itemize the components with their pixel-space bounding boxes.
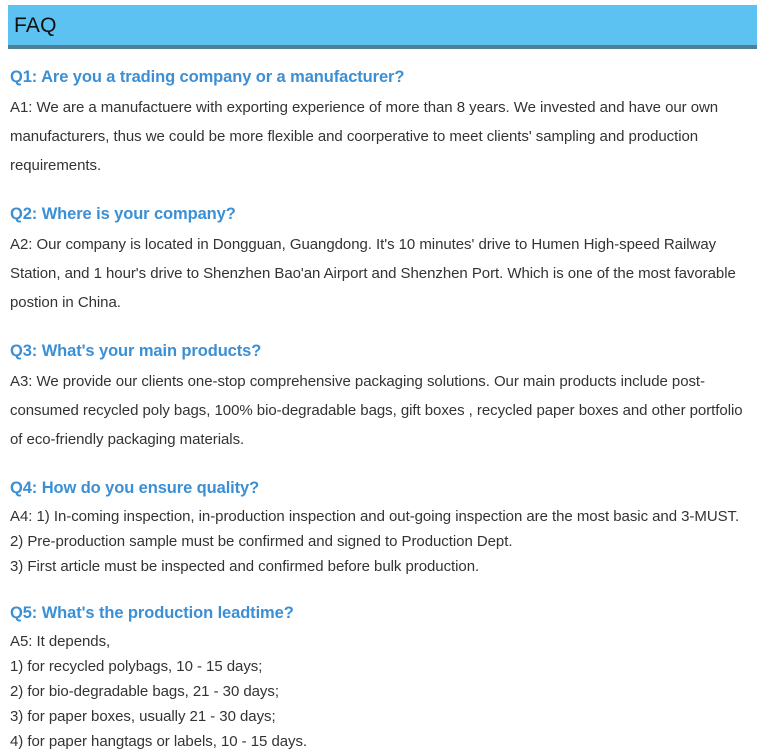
faq-answer-line: 1) for recycled polybags, 10 - 15 days;: [10, 654, 755, 679]
faq-question-q5: Q5: What's the production leadtime?: [10, 602, 755, 626]
faq-question-q4: Q4: How do you ensure quality?: [10, 477, 755, 501]
faq-answer-line: A5: It depends,: [10, 629, 755, 654]
faq-answer-line: 2) for bio-degradable bags, 21 - 30 days…: [10, 679, 755, 704]
faq-answer-line: A4: 1) In-coming inspection, in-producti…: [10, 504, 755, 529]
faq-answer-line: 2) Pre-production sample must be confirm…: [10, 529, 755, 554]
faq-answer-q1: A1: We are a manufactuere with exporting…: [10, 93, 755, 180]
faq-item-q2: Q2: Where is your company? A2: Our compa…: [10, 203, 755, 317]
faq-question-q2: Q2: Where is your company?: [10, 203, 755, 227]
faq-item-q5: Q5: What's the production leadtime? A5: …: [10, 602, 755, 754]
faq-answer-q4: A4: 1) In-coming inspection, in-producti…: [10, 504, 755, 579]
faq-answer-line: 4) for paper hangtags or labels, 10 - 15…: [10, 729, 755, 754]
faq-banner-title: FAQ: [8, 15, 57, 36]
faq-answer-line: 3) for paper boxes, usually 21 - 30 days…: [10, 704, 755, 729]
faq-answer-q3: A3: We provide our clients one-stop comp…: [10, 367, 755, 454]
faq-page: FAQ Q1: Are you a trading company or a m…: [0, 0, 765, 748]
faq-answer-q5: A5: It depends, 1) for recycled polybags…: [10, 629, 755, 754]
faq-item-q1: Q1: Are you a trading company or a manuf…: [10, 66, 755, 180]
faq-item-q3: Q3: What's your main products? A3: We pr…: [10, 340, 755, 454]
faq-content: Q1: Are you a trading company or a manuf…: [10, 66, 755, 754]
faq-answer-line: 3) First article must be inspected and c…: [10, 554, 755, 579]
faq-question-q3: Q3: What's your main products?: [10, 340, 755, 364]
faq-question-q1: Q1: Are you a trading company or a manuf…: [10, 66, 755, 90]
faq-banner: FAQ: [8, 5, 757, 49]
faq-answer-q2: A2: Our company is located in Dongguan, …: [10, 230, 755, 317]
faq-item-q4: Q4: How do you ensure quality? A4: 1) In…: [10, 477, 755, 579]
